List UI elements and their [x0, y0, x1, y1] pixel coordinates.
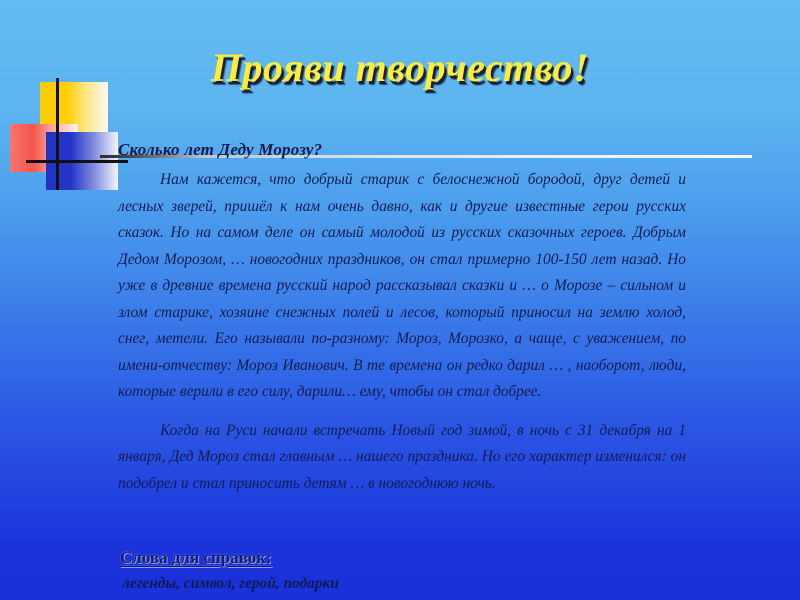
- slide-title: Прояви творчество!: [0, 44, 800, 91]
- paragraph-2: Когда на Руси начали встречать Новый год…: [118, 418, 686, 498]
- vertical-line-icon: [56, 78, 59, 190]
- presentation-slide: Прояви творчество! Сколько лет Деду Моро…: [0, 0, 800, 600]
- paragraph-1: Нам кажется, что добрый старик с белосне…: [118, 167, 686, 406]
- horizontal-line-icon: [26, 160, 128, 163]
- colored-squares-logo: [8, 78, 128, 190]
- body-text-block: Нам кажется, что добрый старик с белосне…: [118, 167, 686, 497]
- reference-words-list: легенды, символ, герой, подарки: [122, 575, 339, 593]
- section-subheading: Сколько лет Деду Морозу?: [118, 140, 322, 160]
- reference-words-title: Слова для справок:: [120, 548, 272, 568]
